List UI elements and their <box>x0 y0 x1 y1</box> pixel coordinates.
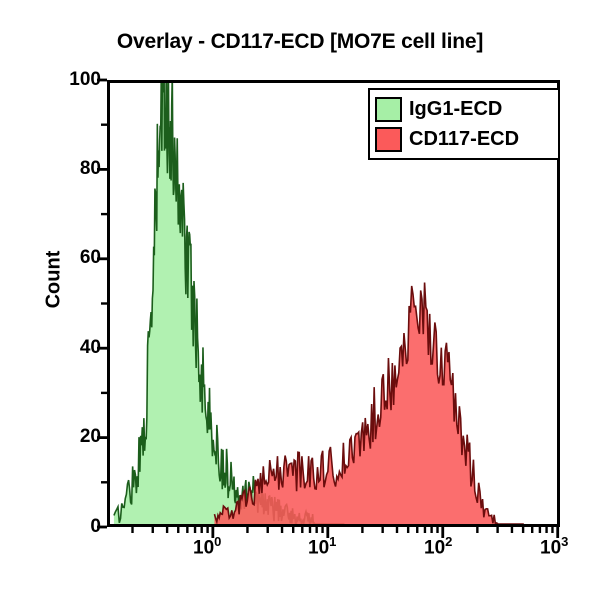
legend-item-cd117: CD117-ECD <box>375 124 553 154</box>
x-tick-1e1: 101 <box>308 534 336 559</box>
legend-swatch-cd117 <box>375 127 402 152</box>
y-tick-60: 60 <box>39 247 101 269</box>
legend: IgG1-ECD CD117-ECD <box>368 88 560 160</box>
flow-cytometry-histogram: Overlay - CD117-ECD [MO7E cell line] Cou… <box>0 0 600 600</box>
legend-label-cd117: CD117-ECD <box>409 129 519 149</box>
x-tick-1e3: 103 <box>540 534 568 559</box>
legend-swatch-igg1 <box>375 97 402 122</box>
x-tick-1e2: 102 <box>424 534 452 559</box>
y-tick-80: 80 <box>39 158 101 180</box>
legend-label-igg1: IgG1-ECD <box>409 99 502 119</box>
y-axis-tick-labels: 100 80 60 40 20 0 <box>33 0 101 600</box>
y-tick-100: 100 <box>39 69 101 91</box>
x-tick-1e0: 100 <box>193 534 221 559</box>
y-tick-20: 20 <box>39 426 101 448</box>
y-tick-0: 0 <box>39 516 101 538</box>
y-tick-40: 40 <box>39 337 101 359</box>
legend-item-igg1: IgG1-ECD <box>375 94 553 124</box>
